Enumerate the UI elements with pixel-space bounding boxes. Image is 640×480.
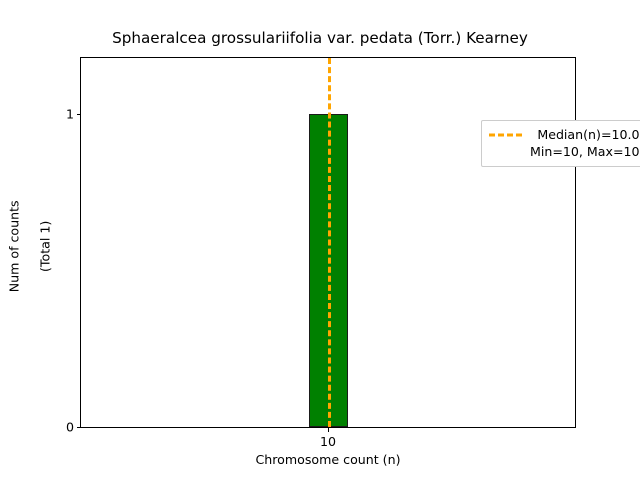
ytick-label-1: 1 xyxy=(66,107,74,122)
y-axis-label-wrap: Num of counts (Total 1) xyxy=(0,0,80,480)
y-axis-label-line1: Num of counts xyxy=(6,66,22,426)
median-line xyxy=(328,58,331,427)
plot-inner xyxy=(81,58,575,427)
xtick-label-10: 10 xyxy=(320,434,336,449)
legend-entry-line2: Min=10, Max=10 xyxy=(530,143,640,160)
y-axis-label-line2: (Total 1) xyxy=(38,66,54,426)
legend-dash-icon xyxy=(489,128,522,142)
chart-title: Sphaeralcea grossulariifolia var. pedata… xyxy=(0,29,640,47)
legend: Median(n)=10.0 Min=10, Max=10 xyxy=(481,120,640,167)
ytick-mark-0 xyxy=(77,427,82,428)
x-axis-label: Chromosome count (n) xyxy=(80,452,576,467)
xtick-mark-10 xyxy=(328,427,329,432)
plot-area: 0 1 10 Median(n)=10.0 Min=10, Max=10 xyxy=(80,57,576,428)
chart-figure: Sphaeralcea grossulariifolia var. pedata… xyxy=(0,0,640,480)
y-axis-label: Num of counts (Total 1) xyxy=(0,66,69,426)
legend-entry-line1: Median(n)=10.0 xyxy=(530,126,640,143)
ytick-mark-1 xyxy=(77,114,82,115)
legend-entry-text: Median(n)=10.0 Min=10, Max=10 xyxy=(530,126,640,160)
ytick-label-0: 0 xyxy=(66,420,74,435)
